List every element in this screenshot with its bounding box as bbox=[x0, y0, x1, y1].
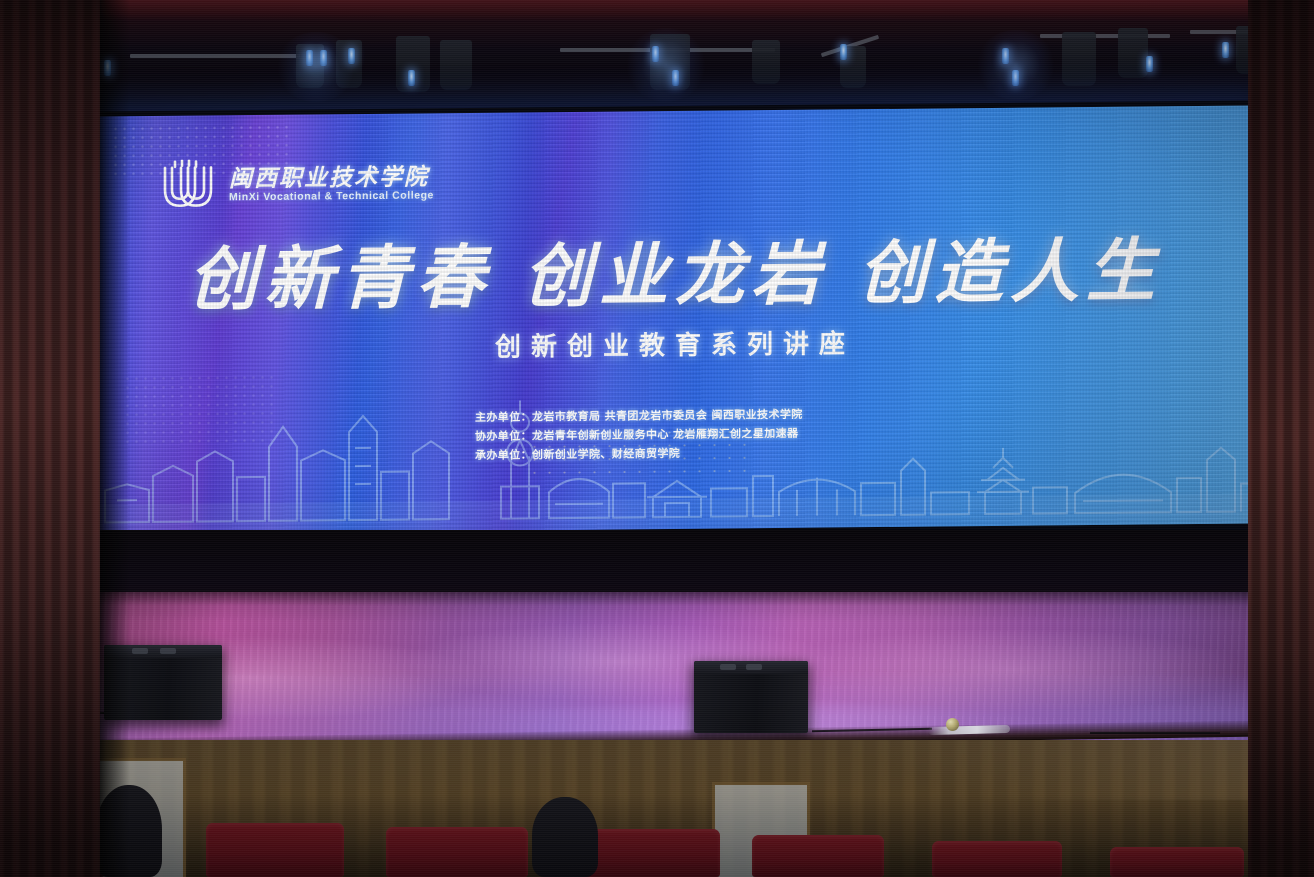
auditorium-seat bbox=[386, 827, 528, 877]
stage-curtain-right bbox=[1248, 0, 1314, 877]
ceiling-red-band bbox=[0, 0, 1314, 22]
microphone-head bbox=[946, 718, 959, 731]
audience-head-silhouette bbox=[532, 797, 598, 877]
stage-monitor-right bbox=[694, 661, 808, 733]
auditorium-seat bbox=[932, 841, 1062, 877]
audio-cable bbox=[1090, 712, 1220, 734]
led-screen-surface: 闽西职业技术学院 MinXi Vocational & Technical Co… bbox=[97, 105, 1253, 534]
stage-light-fixture bbox=[440, 40, 472, 90]
led-backdrop-screen: 闽西职业技术学院 MinXi Vocational & Technical Co… bbox=[92, 100, 1258, 541]
auditorium-seat bbox=[206, 823, 344, 877]
stage-curtain-left bbox=[0, 0, 100, 877]
fixture-indicator-led bbox=[1222, 42, 1229, 58]
stage-photo-scene: 闽西职业技术学院 MinXi Vocational & Technical Co… bbox=[0, 0, 1314, 877]
ceiling bbox=[0, 0, 1314, 118]
lighting-truss bbox=[0, 26, 1314, 96]
fixture-indicator-led bbox=[840, 44, 847, 60]
fixture-indicator-led bbox=[408, 70, 415, 86]
stage-light-fixture bbox=[752, 40, 780, 84]
stage-light-fixture bbox=[1118, 28, 1148, 78]
auditorium-seat bbox=[578, 829, 720, 877]
stage-light-fixture bbox=[1062, 32, 1096, 86]
curtain-left-shadow bbox=[100, 0, 130, 877]
auditorium-seat bbox=[1110, 847, 1244, 877]
auditorium-seat bbox=[752, 835, 884, 877]
fixture-indicator-led bbox=[1146, 56, 1153, 72]
screen-vignette bbox=[97, 105, 1253, 534]
